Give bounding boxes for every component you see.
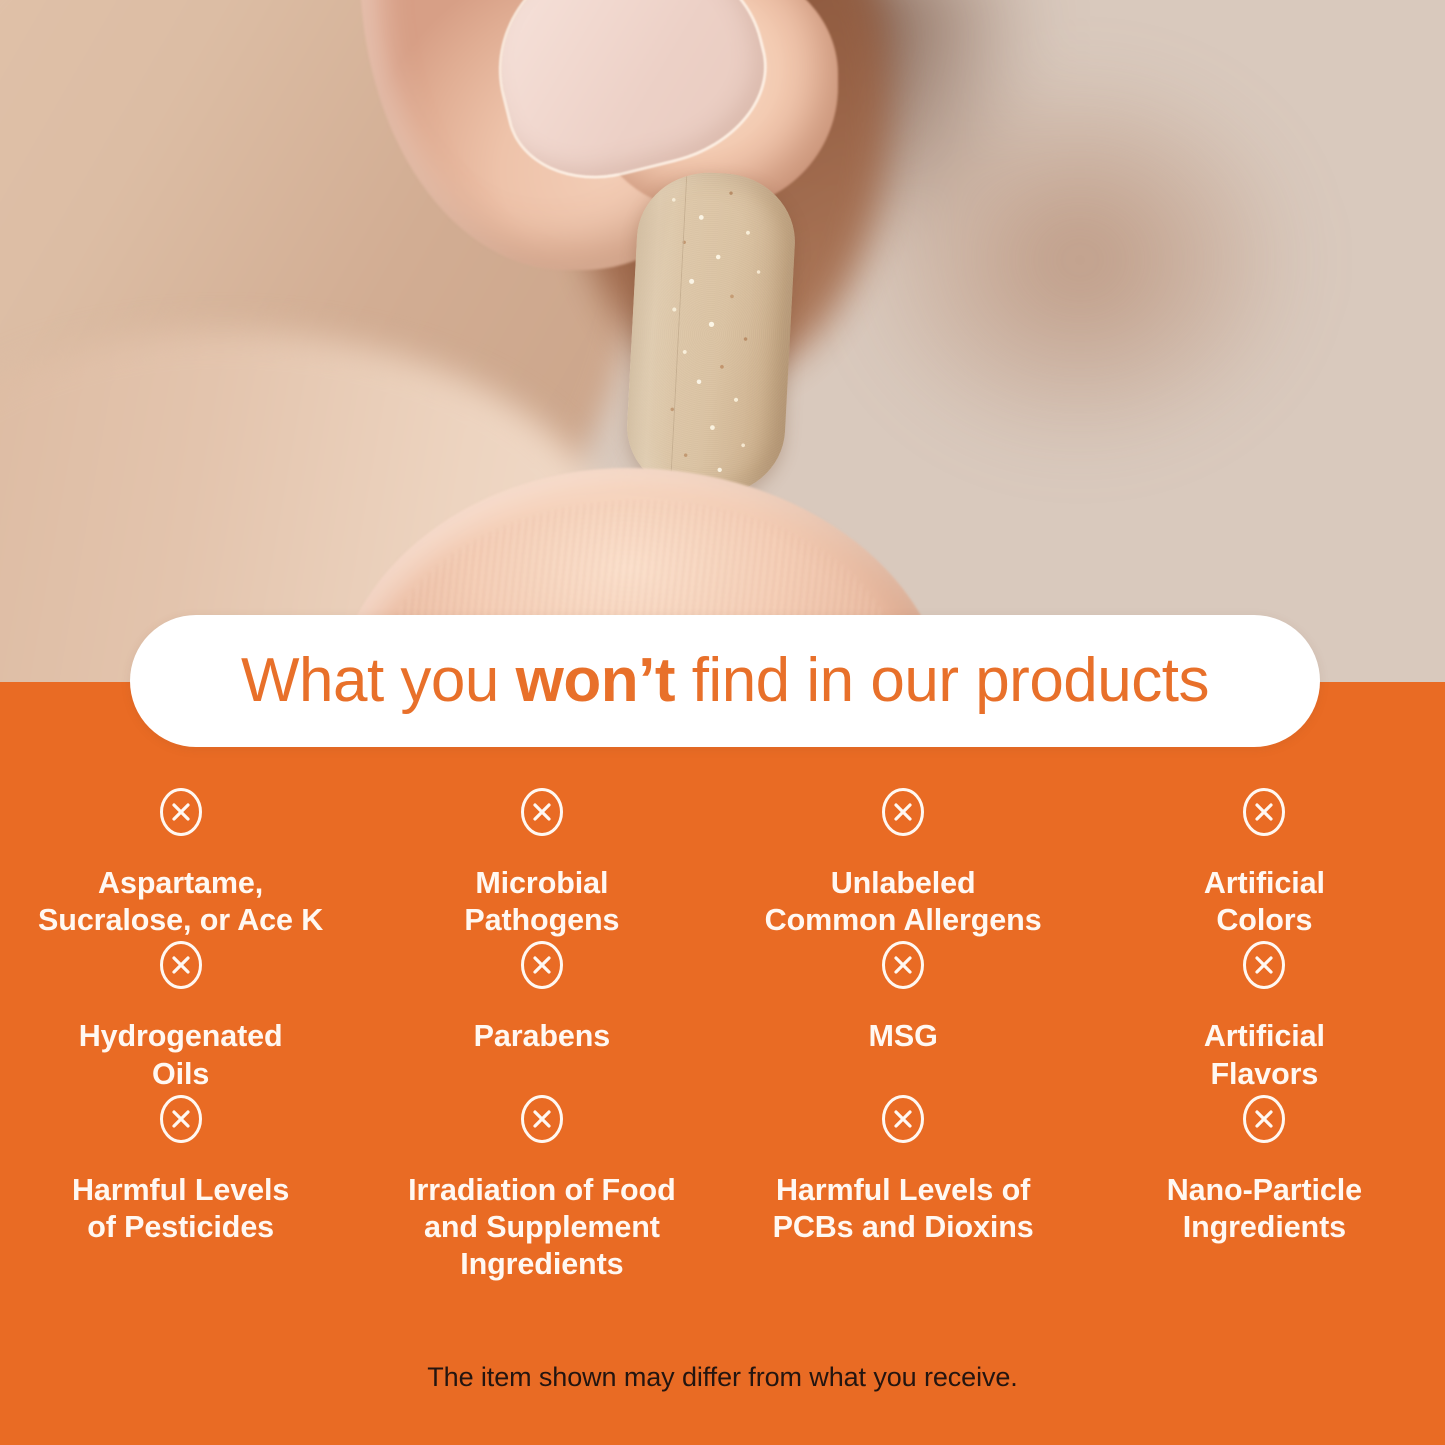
- grid-cell-label: Parabens: [474, 1018, 611, 1055]
- grid-cell-msg: MSG: [723, 939, 1084, 1092]
- grid-cell-label: Harmful Levels of Pesticides: [72, 1172, 289, 1246]
- circle-x-icon: [1241, 939, 1287, 991]
- grid-cell-label: Hydrogenated Oils: [79, 1018, 283, 1092]
- grid-cell-label: MSG: [869, 1018, 938, 1055]
- grid-cell-artificial-colors: Artificial Colors: [1084, 786, 1445, 939]
- grid-cell-pcbs-dioxins: Harmful Levels of PCBs and Dioxins: [723, 1093, 1084, 1284]
- circle-x-icon: [158, 939, 204, 991]
- circle-x-icon: [519, 786, 565, 838]
- circle-x-icon: [158, 1093, 204, 1145]
- grid-cell-label: Artificial Flavors: [1204, 1018, 1325, 1092]
- heading-pill: What you won’t find in our products: [130, 615, 1320, 747]
- circle-x-icon: [880, 1093, 926, 1145]
- circle-x-icon: [880, 939, 926, 991]
- grid-cell-label: Microbial Pathogens: [464, 865, 619, 939]
- grid-cell-label: Aspartame, Sucralose, or Ace K: [38, 865, 323, 939]
- circle-x-icon: [1241, 786, 1287, 838]
- page-title-part-1: What you: [241, 646, 516, 715]
- circle-x-icon: [880, 786, 926, 838]
- grid-cell-aspartame: Aspartame, Sucralose, or Ace K: [0, 786, 361, 939]
- grid-cell-label: Unlabeled Common Allergens: [765, 865, 1042, 939]
- circle-x-icon: [519, 939, 565, 991]
- circle-x-icon: [519, 1093, 565, 1145]
- grid-cell-label: Artificial Colors: [1204, 865, 1325, 939]
- grid-cell-hydrogenated-oils: Hydrogenated Oils: [0, 939, 361, 1092]
- hand-holding-tablet-photo: [0, 0, 1445, 690]
- grid-cell-parabens: Parabens: [361, 939, 722, 1092]
- grid-cell-artificial-flavors: Artificial Flavors: [1084, 939, 1445, 1092]
- grid-cell-label: Harmful Levels of PCBs and Dioxins: [773, 1172, 1034, 1246]
- page-title-emphasis: won’t: [516, 646, 675, 715]
- grid-cell-microbial-pathogens: Microbial Pathogens: [361, 786, 722, 939]
- grid-cell-label: Nano-Particle Ingredients: [1167, 1172, 1362, 1246]
- grid-cell-irradiation: Irradiation of Food and Supplement Ingre…: [361, 1093, 722, 1284]
- grid-cell-pesticides: Harmful Levels of Pesticides: [0, 1093, 361, 1284]
- supplement-tablet: [624, 169, 799, 499]
- grid-cell-unlabeled-allergens: Unlabeled Common Allergens: [723, 786, 1084, 939]
- circle-x-icon: [1241, 1093, 1287, 1145]
- circle-x-icon: [158, 786, 204, 838]
- grid-cell-nano-particle: Nano-Particle Ingredients: [1084, 1093, 1445, 1284]
- product-infographic: What you won’t find in our products Aspa…: [0, 0, 1445, 1445]
- disclaimer-text: The item shown may differ from what you …: [0, 1362, 1445, 1393]
- grid-cell-label: Irradiation of Food and Supplement Ingre…: [408, 1172, 676, 1284]
- page-title-part-2: find in our products: [675, 646, 1209, 715]
- page-title: What you won’t find in our products: [241, 650, 1209, 712]
- excluded-ingredients-grid: Aspartame, Sucralose, or Ace K Microbial…: [0, 786, 1445, 1283]
